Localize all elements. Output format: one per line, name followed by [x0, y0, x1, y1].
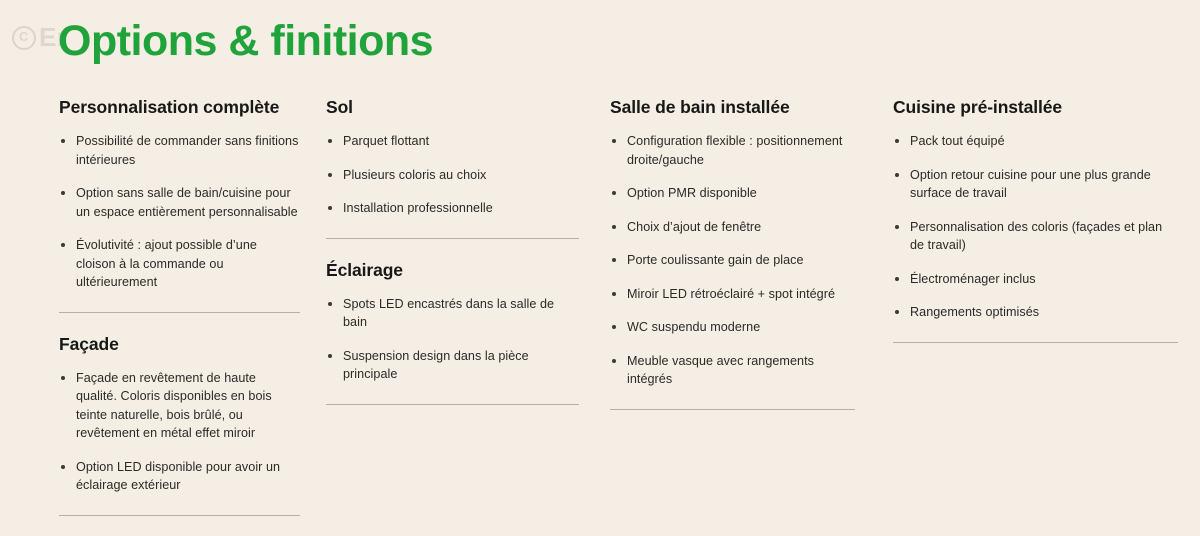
list-item: Option LED disponible pour avoir un écla… — [59, 458, 300, 495]
list-item: Option retour cuisine pour une plus gran… — [893, 166, 1178, 203]
section-sol: Sol Parquet flottant Plusieurs coloris a… — [326, 96, 579, 239]
list-item: Spots LED encastrés dans la salle de bai… — [326, 295, 579, 332]
list-item: Option sans salle de bain/cuisine pour u… — [59, 184, 300, 221]
section-cuisine-pre-installee: Cuisine pré-installée Pack tout équipé O… — [893, 96, 1178, 343]
list-item: Suspension design dans la pièce principa… — [326, 347, 579, 384]
section-title: Cuisine pré-installée — [893, 96, 1178, 118]
section-divider — [326, 404, 579, 405]
section-salle-de-bain-installee: Salle de bain installée Configuration fl… — [610, 96, 855, 410]
bullet-list: Configuration flexible : positionnement … — [610, 132, 855, 389]
list-item: Installation professionnelle — [326, 199, 579, 218]
bullet-list: Spots LED encastrés dans la salle de bai… — [326, 295, 579, 384]
column-personnalisation: Personnalisation complète Possibilité de… — [0, 96, 318, 536]
page-title: Options & finitions — [58, 12, 433, 70]
list-item: Rangements optimisés — [893, 303, 1178, 322]
section-divider — [610, 409, 855, 410]
list-item: Évolutivité : ajout possible d’une clois… — [59, 236, 300, 292]
section-title: Façade — [59, 333, 300, 355]
bullet-list: Parquet flottant Plusieurs coloris au ch… — [326, 132, 579, 218]
section-title: Personnalisation complète — [59, 96, 300, 118]
list-item: WC suspendu moderne — [610, 318, 855, 337]
section-divider — [893, 342, 1178, 343]
list-item: Façade en revêtement de haute qualité. C… — [59, 369, 300, 443]
bullet-list: Pack tout équipé Option retour cuisine p… — [893, 132, 1178, 322]
list-item: Parquet flottant — [326, 132, 579, 151]
copyright-icon: C — [12, 26, 36, 50]
section-facade: Façade Façade en revêtement de haute qua… — [59, 333, 300, 516]
list-item: Pack tout équipé — [893, 132, 1178, 151]
bullet-list: Façade en revêtement de haute qualité. C… — [59, 369, 300, 495]
list-item: Plusieurs coloris au choix — [326, 166, 579, 185]
section-divider — [59, 515, 300, 516]
list-item: Miroir LED rétroéclairé + spot intégré — [610, 285, 855, 304]
list-item: Électroménager inclus — [893, 270, 1178, 289]
options-finitions-page: C Er Options & finitions Personnalisatio… — [0, 0, 1200, 447]
section-divider — [326, 238, 579, 239]
column-cuisine: Cuisine pré-installée Pack tout équipé O… — [870, 96, 1200, 363]
section-divider — [59, 312, 300, 313]
section-personnalisation-complete: Personnalisation complète Possibilité de… — [59, 96, 300, 313]
section-eclairage: Éclairage Spots LED encastrés dans la sa… — [326, 259, 579, 405]
columns-container: Personnalisation complète Possibilité de… — [0, 96, 1200, 536]
list-item: Choix d’ajout de fenêtre — [610, 218, 855, 237]
section-title: Salle de bain installée — [610, 96, 855, 118]
section-title: Éclairage — [326, 259, 579, 281]
column-salle-de-bain: Salle de bain installée Configuration fl… — [595, 96, 870, 430]
bullet-list: Possibilité de commander sans finitions … — [59, 132, 300, 292]
list-item: Option PMR disponible — [610, 184, 855, 203]
column-sol-eclairage: Sol Parquet flottant Plusieurs coloris a… — [318, 96, 595, 425]
list-item: Porte coulissante gain de place — [610, 251, 855, 270]
list-item: Possibilité de commander sans finitions … — [59, 132, 300, 169]
list-item: Meuble vasque avec rangements intégrés — [610, 352, 855, 389]
list-item: Configuration flexible : positionnement … — [610, 132, 855, 169]
list-item: Personnalisation des coloris (façades et… — [893, 218, 1178, 255]
section-title: Sol — [326, 96, 579, 118]
